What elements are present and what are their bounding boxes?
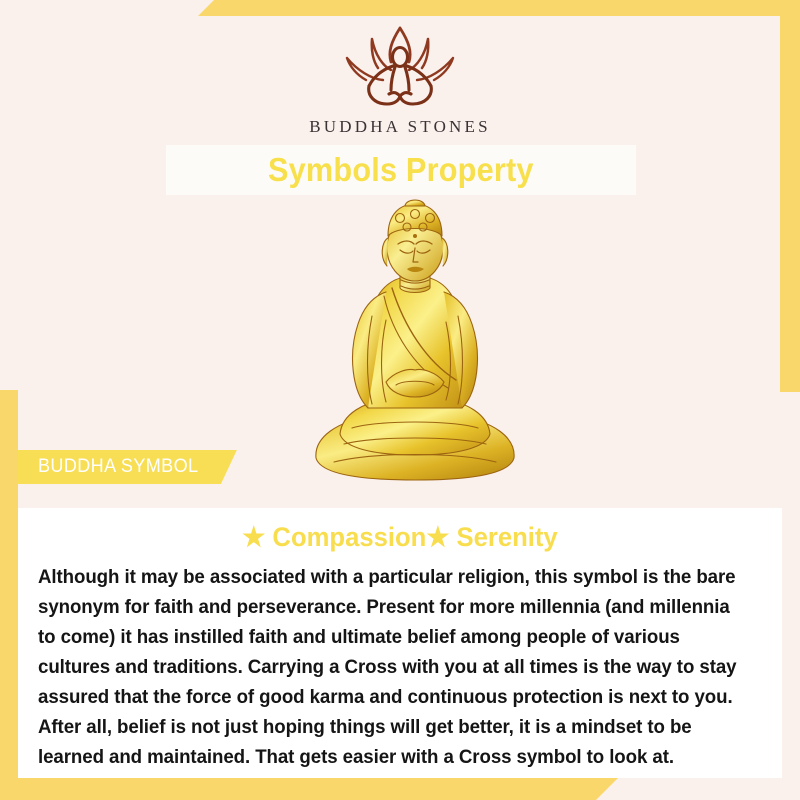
brand-wordmark: BUDDHA STONES [0, 117, 800, 137]
description-paragraph: Although it may be associated with a par… [38, 562, 739, 772]
content-panel: ★ Compassion★ Serenity Although it may b… [18, 508, 782, 778]
brand-logo-block: BUDDHA STONES [0, 22, 800, 137]
title-banner: Symbols Property [166, 145, 636, 195]
lotus-meditation-figure-icon [325, 22, 475, 114]
poster-canvas: BUDDHA STONES Symbols Property [0, 0, 800, 800]
category-ribbon-label: BUDDHA SYMBOL [38, 456, 198, 478]
bottom-accent-band [0, 778, 618, 800]
category-ribbon: BUDDHA SYMBOL [18, 450, 237, 484]
seated-golden-buddha-meditation-icon [300, 196, 530, 486]
left-accent-band [0, 390, 18, 800]
page-title: Symbols Property [268, 151, 534, 189]
attributes-headline: ★ Compassion★ Serenity [47, 522, 754, 553]
buddha-statue-image [300, 196, 530, 486]
top-accent-band [198, 0, 800, 16]
